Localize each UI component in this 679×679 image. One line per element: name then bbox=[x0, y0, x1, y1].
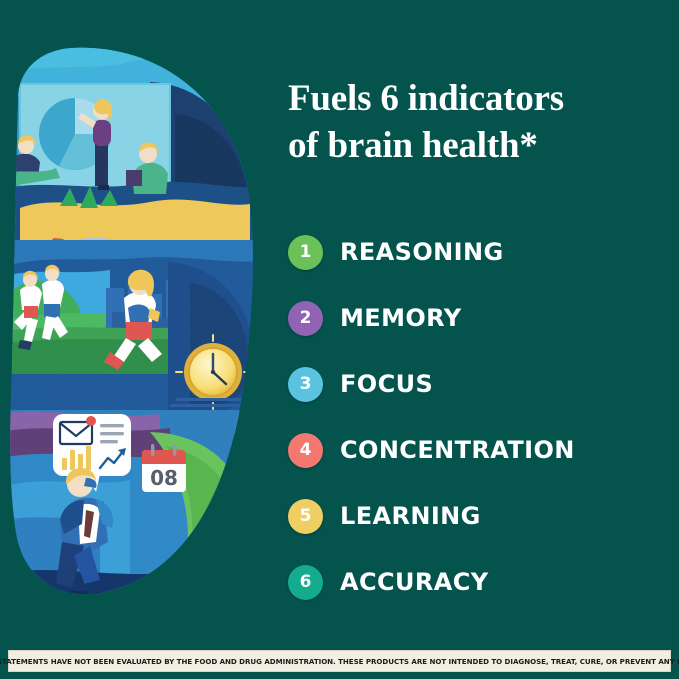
indicator-label-focus: FOCUS bbox=[340, 370, 433, 398]
indicator-badge-4: 4 bbox=[288, 433, 323, 468]
page-title: Fuels 6 indicators of brain health* bbox=[288, 76, 668, 169]
indicator-row-3: 3 FOCUS bbox=[288, 351, 678, 417]
indicator-badge-3: 3 bbox=[288, 367, 323, 402]
indicator-row-5: 5 LEARNING bbox=[288, 483, 678, 549]
indicator-label-concentration: CONCENTRATION bbox=[340, 436, 575, 464]
indicator-badge-2: 2 bbox=[288, 301, 323, 336]
indicator-row-1: 1 REASONING bbox=[288, 219, 678, 285]
indicator-row-2: 2 MEMORY bbox=[288, 285, 678, 351]
headline-line-2: of brain health* bbox=[288, 123, 668, 170]
indicator-label-accuracy: ACCURACY bbox=[340, 568, 489, 596]
indicator-badge-1: 1 bbox=[288, 235, 323, 270]
indicator-label-reasoning: REASONING bbox=[340, 238, 504, 266]
indicator-badge-5: 5 bbox=[288, 499, 323, 534]
indicator-label-memory: MEMORY bbox=[340, 304, 462, 332]
indicator-badge-6: 6 bbox=[288, 565, 323, 600]
indicator-label-learning: LEARNING bbox=[340, 502, 481, 530]
indicator-row-4: 4 CONCENTRATION bbox=[288, 417, 678, 483]
poster-canvas: 08 bbox=[0, 0, 679, 679]
disclaimer-text: *THESE STATEMENTS HAVE NOT BEEN EVALUATE… bbox=[0, 657, 679, 666]
brain-illustration: 08 bbox=[0, 22, 270, 620]
disclaimer-bar: *THESE STATEMENTS HAVE NOT BEEN EVALUATE… bbox=[8, 650, 671, 672]
headline-line-1: Fuels 6 indicators bbox=[288, 76, 668, 123]
indicator-list: 1 REASONING 2 MEMORY 3 FOCUS 4 CONCENTRA… bbox=[288, 219, 678, 615]
indicator-row-6: 6 ACCURACY bbox=[288, 549, 678, 615]
